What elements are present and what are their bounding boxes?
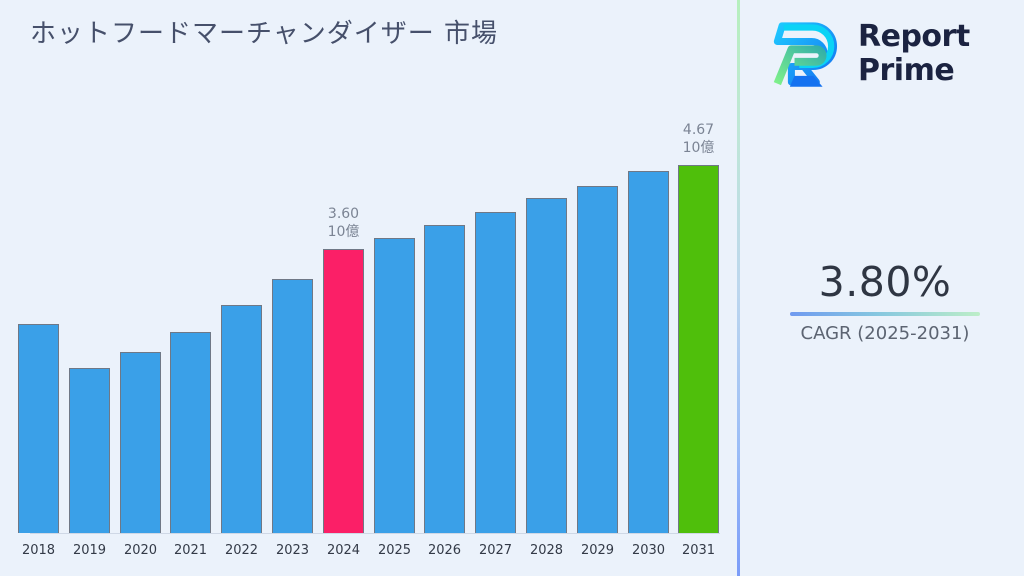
bar-2028[interactable] bbox=[526, 198, 567, 533]
logo-wordmark: Report Prime bbox=[858, 20, 970, 88]
cagr-divider-rule bbox=[790, 312, 980, 316]
bar-2025[interactable] bbox=[374, 238, 415, 533]
logo-line-2: Prime bbox=[858, 54, 970, 88]
cagr-caption: CAGR (2025-2031) bbox=[760, 322, 1010, 346]
bar-2030[interactable] bbox=[628, 171, 669, 533]
bar-value-label-2024: 3.6010億 bbox=[299, 205, 388, 241]
bar-2031[interactable] bbox=[678, 165, 719, 533]
bar-2027[interactable] bbox=[475, 212, 516, 533]
bar-chart-plot: 20182019202020212022202320243.6010億20252… bbox=[0, 0, 738, 576]
bar-value-2031: 4.67 bbox=[654, 121, 743, 139]
bar-value-label-2031: 4.6710億 bbox=[654, 121, 743, 157]
report-prime-mark-icon bbox=[768, 15, 846, 93]
bar-2024[interactable] bbox=[323, 249, 364, 533]
bar-2029[interactable] bbox=[577, 186, 618, 533]
bar-2023[interactable] bbox=[272, 279, 313, 533]
bar-2026[interactable] bbox=[424, 225, 465, 533]
cagr-value: 3.80% bbox=[760, 258, 1010, 306]
x-tick-2031: 2031 bbox=[668, 543, 729, 558]
bar-unit-2031: 10億 bbox=[654, 139, 743, 157]
brand-panel: Report Prime 3.80% CAGR (2025-2031) bbox=[740, 0, 1024, 576]
logo: Report Prime bbox=[768, 12, 1008, 96]
cagr-block: 3.80% CAGR (2025-2031) bbox=[760, 258, 1010, 346]
x-axis-line bbox=[30, 533, 720, 534]
screenshot-root: ホットフードマーチャンダイザー 市場 201820192020202120222… bbox=[0, 0, 1024, 576]
bar-2018[interactable] bbox=[18, 324, 59, 533]
bar-2021[interactable] bbox=[170, 332, 211, 533]
bar-2019[interactable] bbox=[69, 368, 110, 533]
bar-2020[interactable] bbox=[120, 352, 161, 533]
chart-panel: ホットフードマーチャンダイザー 市場 201820192020202120222… bbox=[0, 0, 738, 576]
logo-line-1: Report bbox=[858, 20, 970, 54]
bar-value-2024: 3.60 bbox=[299, 205, 388, 223]
bar-2022[interactable] bbox=[221, 305, 262, 533]
